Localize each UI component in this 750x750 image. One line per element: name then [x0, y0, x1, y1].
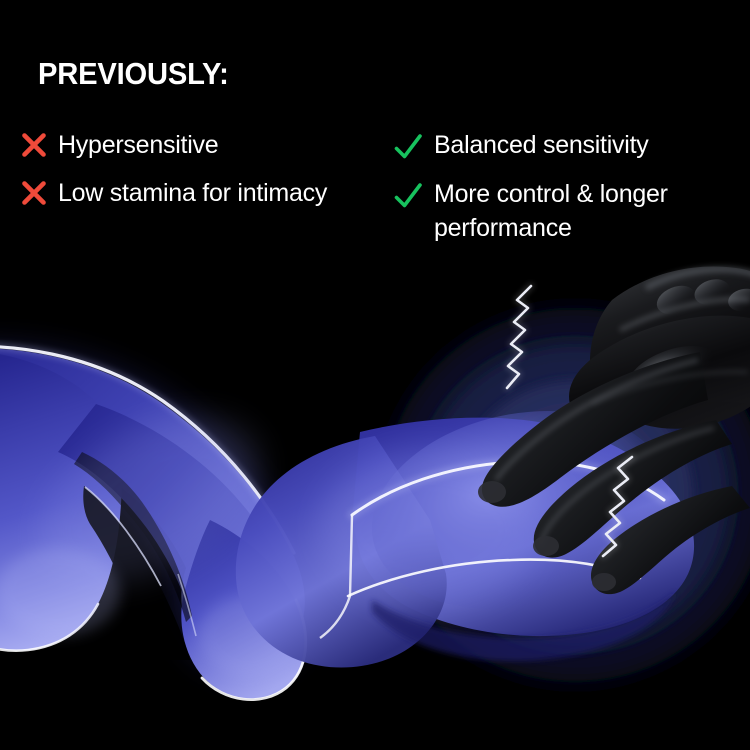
list-item: Hypersensitive	[18, 128, 393, 162]
promo-comparison-graphic: PREVIOUSLY: Hypersensitive Low stamina f…	[0, 0, 750, 750]
list-item-label: Low stamina for intimacy	[58, 176, 327, 210]
x-mark-icon	[18, 177, 50, 209]
afterward-list: Balanced sensitivity More control & long…	[375, 128, 750, 259]
list-item: Low stamina for intimacy	[18, 176, 393, 210]
column-heading-previously: PREVIOUSLY:	[38, 56, 229, 92]
list-item: More control & longer performance	[392, 177, 750, 245]
list-item-label: More control & longer performance	[434, 177, 734, 245]
list-item: Balanced sensitivity	[392, 128, 750, 163]
list-item-label: Balanced sensitivity	[434, 128, 649, 162]
check-mark-icon	[392, 180, 424, 212]
column-afterward: AFTERWARD: Balanced sensitivity More con…	[375, 0, 750, 300]
x-mark-icon	[18, 129, 50, 161]
list-item-label: Hypersensitive	[58, 128, 218, 162]
comparison-columns: PREVIOUSLY: Hypersensitive Low stamina f…	[0, 0, 750, 300]
previously-list: Hypersensitive Low stamina for intimacy	[0, 128, 393, 224]
check-mark-icon	[392, 131, 424, 163]
column-previously: PREVIOUSLY: Hypersensitive Low stamina f…	[0, 0, 375, 300]
